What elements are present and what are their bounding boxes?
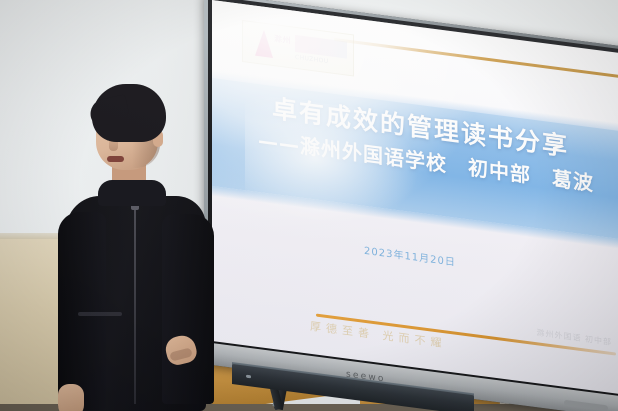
interactive-flat-panel-display[interactable]: 滁州 CHUZHOU 卓有成效的管理读书分享 ——滁州外国语学校 初中部 葛波 …: [204, 0, 618, 411]
jacket-collar: [98, 180, 166, 206]
logo-triangle-icon: [255, 29, 273, 58]
jacket-zipper: [134, 204, 136, 404]
presentation-slide[interactable]: 滁州 CHUZHOU 卓有成效的管理读书分享 ——滁州外国语学校 初中部 葛波 …: [212, 0, 618, 395]
school-logo: 滁州 CHUZHOU: [242, 20, 354, 77]
stand-shelf-marker: [246, 375, 251, 379]
classroom-presentation-scene: 滁州 CHUZHOU 卓有成效的管理读书分享 ——滁州外国语学校 初中部 葛波 …: [0, 0, 618, 411]
presenter-left-arm: [58, 212, 106, 410]
presenter-mouth: [107, 156, 124, 162]
slide-date: 2023年11月20日: [364, 242, 456, 269]
speaker-grill: [564, 400, 608, 411]
presenter-resting-hand: [58, 384, 84, 411]
presenter: [52, 84, 218, 411]
presenter-right-arm: [162, 214, 214, 404]
jacket-pocket: [78, 312, 122, 316]
logo-cn-mark: 滁州: [274, 34, 291, 45]
